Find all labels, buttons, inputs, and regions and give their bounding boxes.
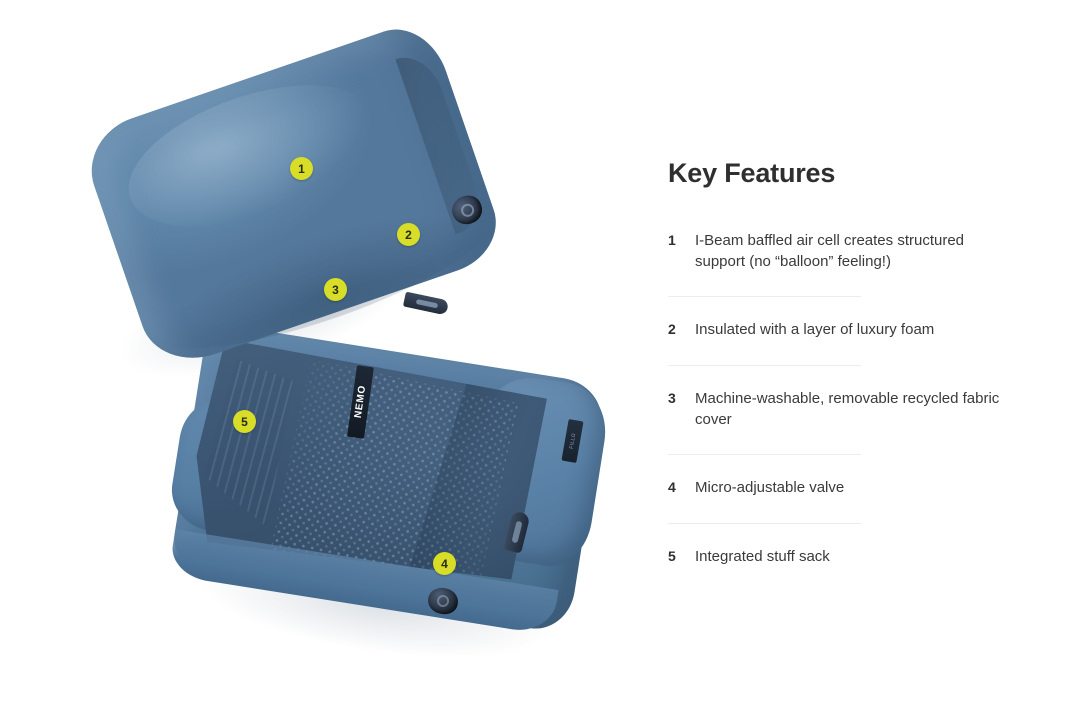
feature-divider [668,365,861,366]
feature-number-5: 5 [668,547,678,564]
feature-item-4: 4Micro-adjustable valve [668,478,1008,523]
feature-number-4: 4 [668,478,678,495]
callout-badge-4[interactable]: 4 [433,552,456,575]
feature-item-5: 5Integrated stuff sack [668,547,1008,592]
feature-text-5: Integrated stuff sack [695,547,830,568]
feature-item-2: 2Insulated with a layer of luxury foam [668,320,1008,365]
feature-divider [668,523,861,524]
feature-divider [668,454,861,455]
feature-text-2: Insulated with a layer of luxury foam [695,320,934,341]
feature-divider [668,296,861,297]
feature-text-4: Micro-adjustable valve [695,478,844,499]
callout-badge-3[interactable]: 3 [324,278,347,301]
feature-item-3: 3Machine-washable, removable recycled fa… [668,389,1008,454]
nemo-brand-text: NEMO [353,385,369,419]
upper-pillow [77,17,508,374]
lower-pillow [169,322,607,634]
pillow-stage: NEMO FILLO 12345 [0,0,640,720]
product-figure: NEMO FILLO 12345 [0,0,640,720]
feature-number-3: 3 [668,389,678,406]
feature-text-3: Machine-washable, removable recycled fab… [695,389,1000,430]
callout-badge-2[interactable]: 2 [397,223,420,246]
feature-item-1: 1I-Beam baffled air cell creates structu… [668,231,1008,296]
upper-pull-tab [403,292,449,316]
feature-text-1: I-Beam baffled air cell creates structur… [695,231,1000,272]
callout-badge-1[interactable]: 1 [290,157,313,180]
page-title: Key Features [668,158,1008,189]
feature-number-1: 1 [668,231,678,248]
callout-badge-5[interactable]: 5 [233,410,256,433]
lower-valve-icon [426,586,460,617]
key-features-panel: Key Features 1I-Beam baffled air cell cr… [668,158,1008,592]
feature-number-2: 2 [668,320,678,337]
feature-list: 1I-Beam baffled air cell creates structu… [668,231,1008,592]
side-care-tag-text: FILLO [568,433,577,450]
